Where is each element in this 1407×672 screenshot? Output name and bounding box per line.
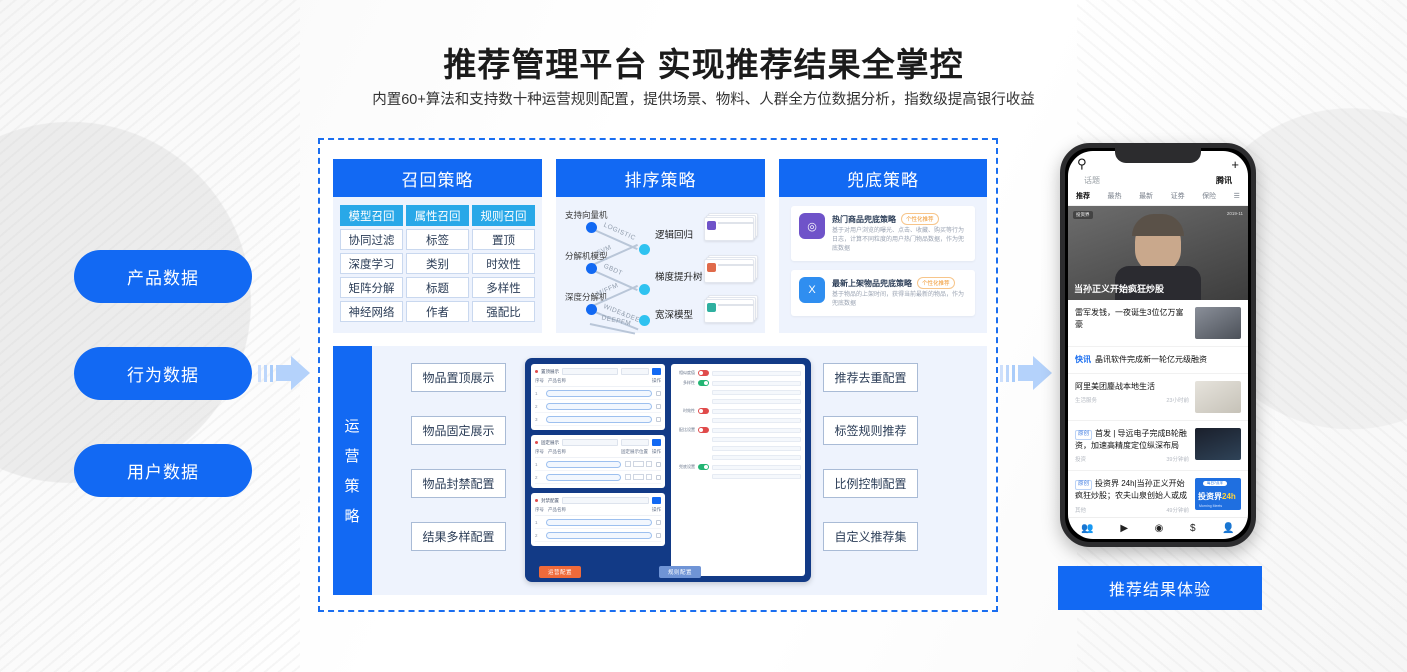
recall-cell[interactable]: 标签: [406, 229, 469, 250]
recall-cell[interactable]: 矩阵分解: [340, 277, 403, 298]
recall-cell[interactable]: 协同过滤: [340, 229, 403, 250]
fallback-card-title: 最新上架物品兜底策略: [832, 278, 912, 289]
sort-result-cards: [704, 255, 758, 281]
news-category: 投资: [1075, 455, 1086, 463]
recall-col-header[interactable]: 属性召回: [406, 205, 469, 226]
news-category: 生活服务: [1075, 396, 1097, 404]
mock-rule-label: 兜底设置: [675, 464, 695, 470]
compass-icon: ◎: [799, 213, 825, 239]
arrow-right-icon: [258, 356, 310, 390]
phone-notch: [1115, 148, 1201, 163]
mock-col-name: 产品名称: [548, 507, 648, 513]
phone-nav-topic[interactable]: 话题: [1084, 175, 1100, 186]
thumb-pill-label: 每日7点半: [1203, 481, 1227, 486]
mock-panel-ban: 封禁配置 序号产品名称操作 1 2: [531, 493, 665, 546]
mock-toggle[interactable]: [698, 408, 709, 414]
ops-button-fixed-item[interactable]: 物品固定展示: [411, 416, 506, 445]
finance-icon[interactable]: $: [1190, 523, 1196, 534]
ops-button-pin-item[interactable]: 物品置顶展示: [411, 363, 506, 392]
panel-sort-title: 排序策略: [556, 159, 765, 197]
operations-label-char: 略: [344, 505, 360, 526]
ops-button-custom-set[interactable]: 自定义推荐集: [823, 522, 918, 551]
mock-tab-rules[interactable]: 规则配置: [659, 566, 701, 578]
panel-sort-strategy: 排序策略 支持向量机 分解机模型 深度分解机 LOGISTIC SVM GBDT…: [556, 159, 765, 333]
fallback-card-desc: 基于对用户浏览的曝光、点击、收藏、购买等行为日志，计算不同粒度的用户热门物品数据…: [832, 227, 967, 254]
sort-node-input: [586, 304, 597, 315]
mock-rule-label: 配比设置: [675, 427, 695, 433]
news-original-badge: 原创: [1075, 430, 1092, 440]
hero-title: 当孙正义开始疯狂炒股: [1074, 282, 1242, 295]
mock-col-index: 序号: [535, 378, 544, 384]
mock-col-pos: 固定展示位置: [621, 449, 648, 455]
recall-cell[interactable]: 深度学习: [340, 253, 403, 274]
sort-output-label: 梯度提升树: [655, 269, 703, 283]
admin-console-mockup[interactable]: 置顶展示 序号产品名称操作 1 2 3 固定展示 序号产品名称固定展示位置操作 …: [525, 358, 811, 582]
news-title: 雷军发钱，一夜诞生3位亿万富豪: [1075, 307, 1189, 330]
hero-date: 2019-11: [1227, 211, 1243, 216]
search-icon[interactable]: ⚲: [1077, 156, 1087, 172]
panel-recall-strategy: 召回策略 模型召回 属性召回 规则召回 协同过滤 标签 置顶 深度学习 类别 时…: [333, 159, 542, 333]
data-source-label: 行为数据: [127, 361, 199, 386]
mock-filter-label: 固定展示: [541, 440, 559, 446]
news-item[interactable]: 雷军发钱，一夜诞生3位亿万富豪: [1068, 300, 1248, 347]
mock-toggle[interactable]: [698, 464, 709, 470]
community-icon[interactable]: 👥: [1081, 523, 1093, 534]
platform-board: 召回策略 模型召回 属性召回 规则召回 协同过滤 标签 置顶 深度学习 类别 时…: [318, 138, 998, 612]
sort-node-output: [639, 244, 650, 255]
mock-panel-rules: 相似度值 多样性 时效性 配比设置 兜底设置: [671, 364, 805, 576]
ops-button-dedupe[interactable]: 推荐去重配置: [823, 363, 918, 392]
sort-node-output: [639, 284, 650, 295]
sort-edge: M/FFM: [590, 285, 638, 308]
news-original-badge: 原创: [1075, 480, 1092, 490]
operations-label: 运 营 策 略: [333, 346, 372, 595]
news-item[interactable]: 原创首发 | 导远电子完成B轮融资，加速高精度定位纵深布局 投资 39分钟前: [1068, 421, 1248, 472]
phone-bottom-nav[interactable]: 👥 ▶ ◉ $ 👤: [1068, 517, 1248, 539]
thumb-title: 投资界: [1198, 492, 1222, 501]
recall-cell[interactable]: 置顶: [472, 229, 535, 250]
page-title: 推荐管理平台 实现推荐结果全掌控: [0, 38, 1407, 86]
news-thumbnail: [1195, 381, 1241, 413]
ops-button-ban-item[interactable]: 物品封禁配置: [411, 469, 506, 498]
fallback-card-badge: 个性化推荐: [901, 213, 939, 225]
recall-col-header[interactable]: 模型召回: [340, 205, 403, 226]
mock-col-index: 序号: [535, 449, 544, 455]
phone-tab-hot[interactable]: 最热: [1108, 191, 1122, 201]
recall-cell[interactable]: 神经网络: [340, 301, 403, 322]
sort-edge-label: LOGISTIC: [602, 222, 636, 242]
sort-result-cards: [704, 213, 758, 239]
panel-recall-title: 召回策略: [333, 159, 542, 197]
data-source-user[interactable]: 用户数据: [74, 444, 252, 497]
mock-rule-label: 时效性: [675, 408, 695, 414]
data-source-label: 用户数据: [127, 458, 199, 483]
operations-label-char: 营: [344, 445, 360, 466]
sort-edge: SVM: [590, 244, 638, 267]
mock-panel-pin: 置顶展示 序号产品名称操作 1 2 3: [531, 364, 665, 430]
mock-rule-label: 多样性: [675, 380, 695, 386]
new-arrival-icon: X: [799, 277, 825, 303]
news-thumbnail: 每日7点半 投资界24h Morning Meets: [1195, 478, 1241, 510]
mock-col-name: 产品名称: [548, 449, 617, 455]
operations-label-char: 策: [344, 475, 360, 496]
phone-mockup: ⚲ + 话题 腾讯 推荐 最热 最新 证券 保险 ☰ 投资界 2019-11 当…: [1060, 143, 1256, 547]
recall-col-header[interactable]: 规则召回: [472, 205, 535, 226]
phone-screen: ⚲ + 话题 腾讯 推荐 最热 最新 证券 保险 ☰ 投资界 2019-11 当…: [1068, 151, 1248, 539]
mock-col-name: 产品名称: [548, 378, 648, 384]
sort-node-input: [586, 222, 597, 233]
phone-tab-recommend[interactable]: 推荐: [1076, 191, 1090, 201]
sort-algorithm-diagram: 支持向量机 分解机模型 深度分解机 LOGISTIC SVM GBDT M/FF…: [556, 197, 765, 333]
fallback-card-title: 热门商品兜底策略: [832, 214, 896, 225]
mock-col-action: 操作: [652, 449, 661, 455]
mock-toggle[interactable]: [698, 370, 709, 376]
mock-search-button[interactable]: [652, 439, 661, 446]
panel-fallback-strategy: 兜底策略 ◎ 热门商品兜底策略 个性化推荐 基于对用户浏览的曝光、点击、收藏、购…: [779, 159, 987, 333]
data-source-product[interactable]: 产品数据: [74, 250, 252, 303]
news-flash-badge: 快讯: [1075, 354, 1091, 366]
news-category: 其他: [1075, 506, 1086, 514]
mock-tab-operations[interactable]: 运营配置: [539, 566, 581, 578]
profile-icon[interactable]: 👤: [1222, 523, 1234, 534]
page-subtitle: 内置60+算法和支持数十种运营规则配置，提供场景、物料、人群全方位数据分析，指数…: [0, 88, 1407, 109]
mock-filter-label: 封禁配置: [541, 498, 559, 504]
sort-result-cards: [704, 295, 758, 321]
sort-input-label: 支持向量机: [565, 209, 608, 221]
video-icon[interactable]: ▶: [1120, 523, 1128, 534]
news-item[interactable]: 快讯晶讯软件完成新一轮亿元级融资: [1068, 347, 1248, 374]
mock-rule-label: 相似度值: [675, 370, 695, 376]
fallback-card-desc: 基于物品的上架时间，获得当前最新的物品，作为兜底数据: [832, 291, 967, 309]
hero-tag: 投资界: [1073, 211, 1093, 219]
recall-cell[interactable]: 多样性: [472, 277, 535, 298]
phone-caption: 推荐结果体验: [1058, 566, 1262, 610]
sort-output-label: 逻辑回归: [655, 227, 693, 241]
ops-button-diversity[interactable]: 结果多样配置: [411, 522, 506, 551]
news-title: 晶讯软件完成新一轮亿元级融资: [1095, 355, 1207, 364]
operations-strategy-section: 运 营 策 略 物品置顶展示 物品固定展示 物品封禁配置 结果多样配置 推荐去重…: [333, 346, 987, 595]
recall-grid: 模型召回 属性召回 规则召回 协同过滤 标签 置顶 深度学习 类别 时效性 矩阵…: [333, 197, 542, 329]
sort-edge-label: GBDT: [602, 263, 623, 278]
recall-cell[interactable]: 作者: [406, 301, 469, 322]
news-time: 39分钟前: [1166, 455, 1189, 463]
hamburger-icon[interactable]: ☰: [1234, 192, 1240, 200]
data-source-behavior[interactable]: 行为数据: [74, 347, 252, 400]
news-item[interactable]: 原创投资界 24h|当孙正义开始疯狂炒股；农夫山泉创始人或成 其他 49分钟前 …: [1068, 471, 1248, 517]
camera-icon[interactable]: ◉: [1155, 523, 1164, 534]
mock-filter-label: 置顶展示: [541, 369, 559, 375]
panel-fallback-title: 兜底策略: [779, 159, 987, 197]
phone-nav-tencent[interactable]: 腾讯: [1216, 175, 1232, 186]
ops-button-tag-rule[interactable]: 标签规则推荐: [823, 416, 918, 445]
mock-col-index: 序号: [535, 507, 544, 513]
sort-node-output: [639, 315, 650, 326]
mock-col-action: 操作: [652, 378, 661, 384]
data-source-label: 产品数据: [127, 264, 199, 289]
news-item[interactable]: 阿里美团鏖战本地生活 生活服务 23小时前: [1068, 374, 1248, 421]
recall-cell[interactable]: 强配比: [472, 301, 535, 322]
news-title: 阿里美团鏖战本地生活: [1075, 381, 1189, 393]
ops-button-ratio[interactable]: 比例控制配置: [823, 469, 918, 498]
mock-toggle[interactable]: [698, 427, 709, 433]
sort-edge: DEEPFM: [590, 323, 635, 334]
fallback-card[interactable]: ◎ 热门商品兜底策略 个性化推荐 基于对用户浏览的曝光、点击、收藏、购买等行为日…: [791, 206, 975, 261]
fallback-card-badge: 个性化推荐: [917, 277, 955, 289]
mock-search-button[interactable]: [652, 497, 661, 504]
recall-cell[interactable]: 标题: [406, 277, 469, 298]
mock-toggle[interactable]: [698, 380, 709, 386]
sort-node-input: [586, 263, 597, 274]
news-time: 23小时前: [1166, 396, 1189, 404]
sort-output-label: 宽深模型: [655, 307, 693, 321]
phone-tab-securities[interactable]: 证券: [1171, 191, 1185, 201]
news-thumbnail: [1195, 428, 1241, 460]
phone-news-feed[interactable]: 投资界 2019-11 当孙正义开始疯狂炒股 雷军发钱，一夜诞生3位亿万富豪 快…: [1068, 206, 1248, 517]
operations-label-char: 运: [344, 415, 360, 436]
news-thumbnail: [1195, 307, 1241, 339]
mock-panel-fixed: 固定展示 序号产品名称固定展示位置操作 1 2: [531, 435, 665, 488]
fallback-card[interactable]: X 最新上架物品兜底策略 个性化推荐 基于物品的上架时间，获得当前最新的物品，作…: [791, 270, 975, 316]
phone-tab-new[interactable]: 最新: [1139, 191, 1153, 201]
thumb-subtitle: Morning Meets: [1199, 504, 1222, 508]
news-time: 49分钟前: [1166, 506, 1189, 514]
arrow-right-icon: [1000, 356, 1052, 390]
plus-icon[interactable]: +: [1231, 157, 1239, 172]
phone-tab-insurance[interactable]: 保险: [1202, 191, 1216, 201]
thumb-title-accent: 24h: [1222, 492, 1236, 501]
mock-search-button[interactable]: [652, 368, 661, 375]
mock-col-action: 操作: [652, 507, 661, 513]
hero-article[interactable]: 投资界 2019-11 当孙正义开始疯狂炒股: [1068, 206, 1248, 300]
recall-cell[interactable]: 时效性: [472, 253, 535, 274]
recall-cell[interactable]: 类别: [406, 253, 469, 274]
